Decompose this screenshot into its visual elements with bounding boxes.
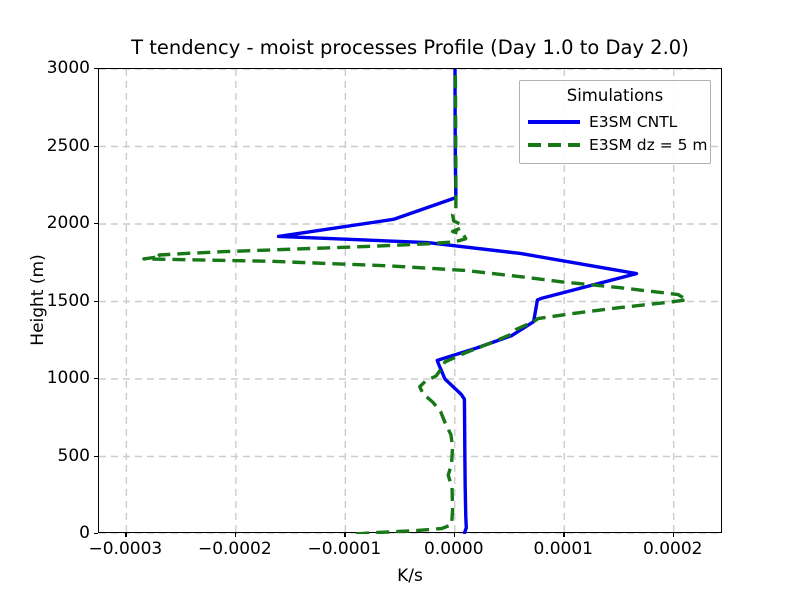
x-tick-label-1: −0.0002	[198, 539, 272, 559]
x-tick-label-5: 0.0002	[643, 539, 702, 559]
chart-figure: T tendency - moist processes Profile (Da…	[0, 0, 800, 600]
legend-label-0: E3SM CNTL	[589, 113, 677, 131]
legend-box[interactable]: Simulations E3SM CNTLE3SM dz = 5 m	[519, 80, 711, 164]
legend-label-1: E3SM dz = 5 m	[589, 136, 708, 154]
y-tick-label-4: 2000	[47, 213, 90, 233]
y-tick-mark-1	[94, 456, 98, 457]
y-tick-mark-3	[94, 301, 98, 302]
y-tick-mark-2	[94, 378, 98, 379]
y-tick-mark-4	[94, 223, 98, 224]
y-tick-label-2: 1000	[47, 368, 90, 388]
y-tick-mark-6	[94, 68, 98, 69]
x-tick-mark-2	[344, 533, 345, 537]
x-tick-label-2: −0.0001	[307, 539, 381, 559]
y-tick-label-6: 3000	[47, 58, 90, 78]
chart-title: T tendency - moist processes Profile (Da…	[98, 38, 722, 58]
legend-entry-1[interactable]: E3SM dz = 5 m	[528, 133, 702, 156]
x-tick-label-4: 0.0001	[534, 539, 593, 559]
y-axis-label: Height (m)	[28, 200, 48, 400]
legend-swatch-dashed-icon	[528, 138, 580, 152]
legend-swatch-solid-icon	[528, 115, 580, 129]
x-tick-mark-5	[673, 533, 674, 537]
y-tick-label-5: 2500	[47, 136, 90, 156]
y-tick-mark-5	[94, 146, 98, 147]
legend-entry-0[interactable]: E3SM CNTL	[528, 110, 702, 133]
y-tick-label-3: 1500	[47, 291, 90, 311]
x-tick-mark-3	[454, 533, 455, 537]
x-tick-mark-4	[563, 533, 564, 537]
x-tick-label-0: −0.0003	[88, 539, 162, 559]
y-tick-label-1: 500	[58, 446, 90, 466]
legend-entries: E3SM CNTLE3SM dz = 5 m	[528, 110, 702, 156]
x-tick-mark-1	[235, 533, 236, 537]
x-axis-label: K/s	[98, 566, 722, 586]
x-tick-mark-0	[125, 533, 126, 537]
y-tick-mark-0	[94, 533, 98, 534]
x-tick-label-3: 0.0000	[424, 539, 483, 559]
legend-title: Simulations	[528, 87, 702, 105]
